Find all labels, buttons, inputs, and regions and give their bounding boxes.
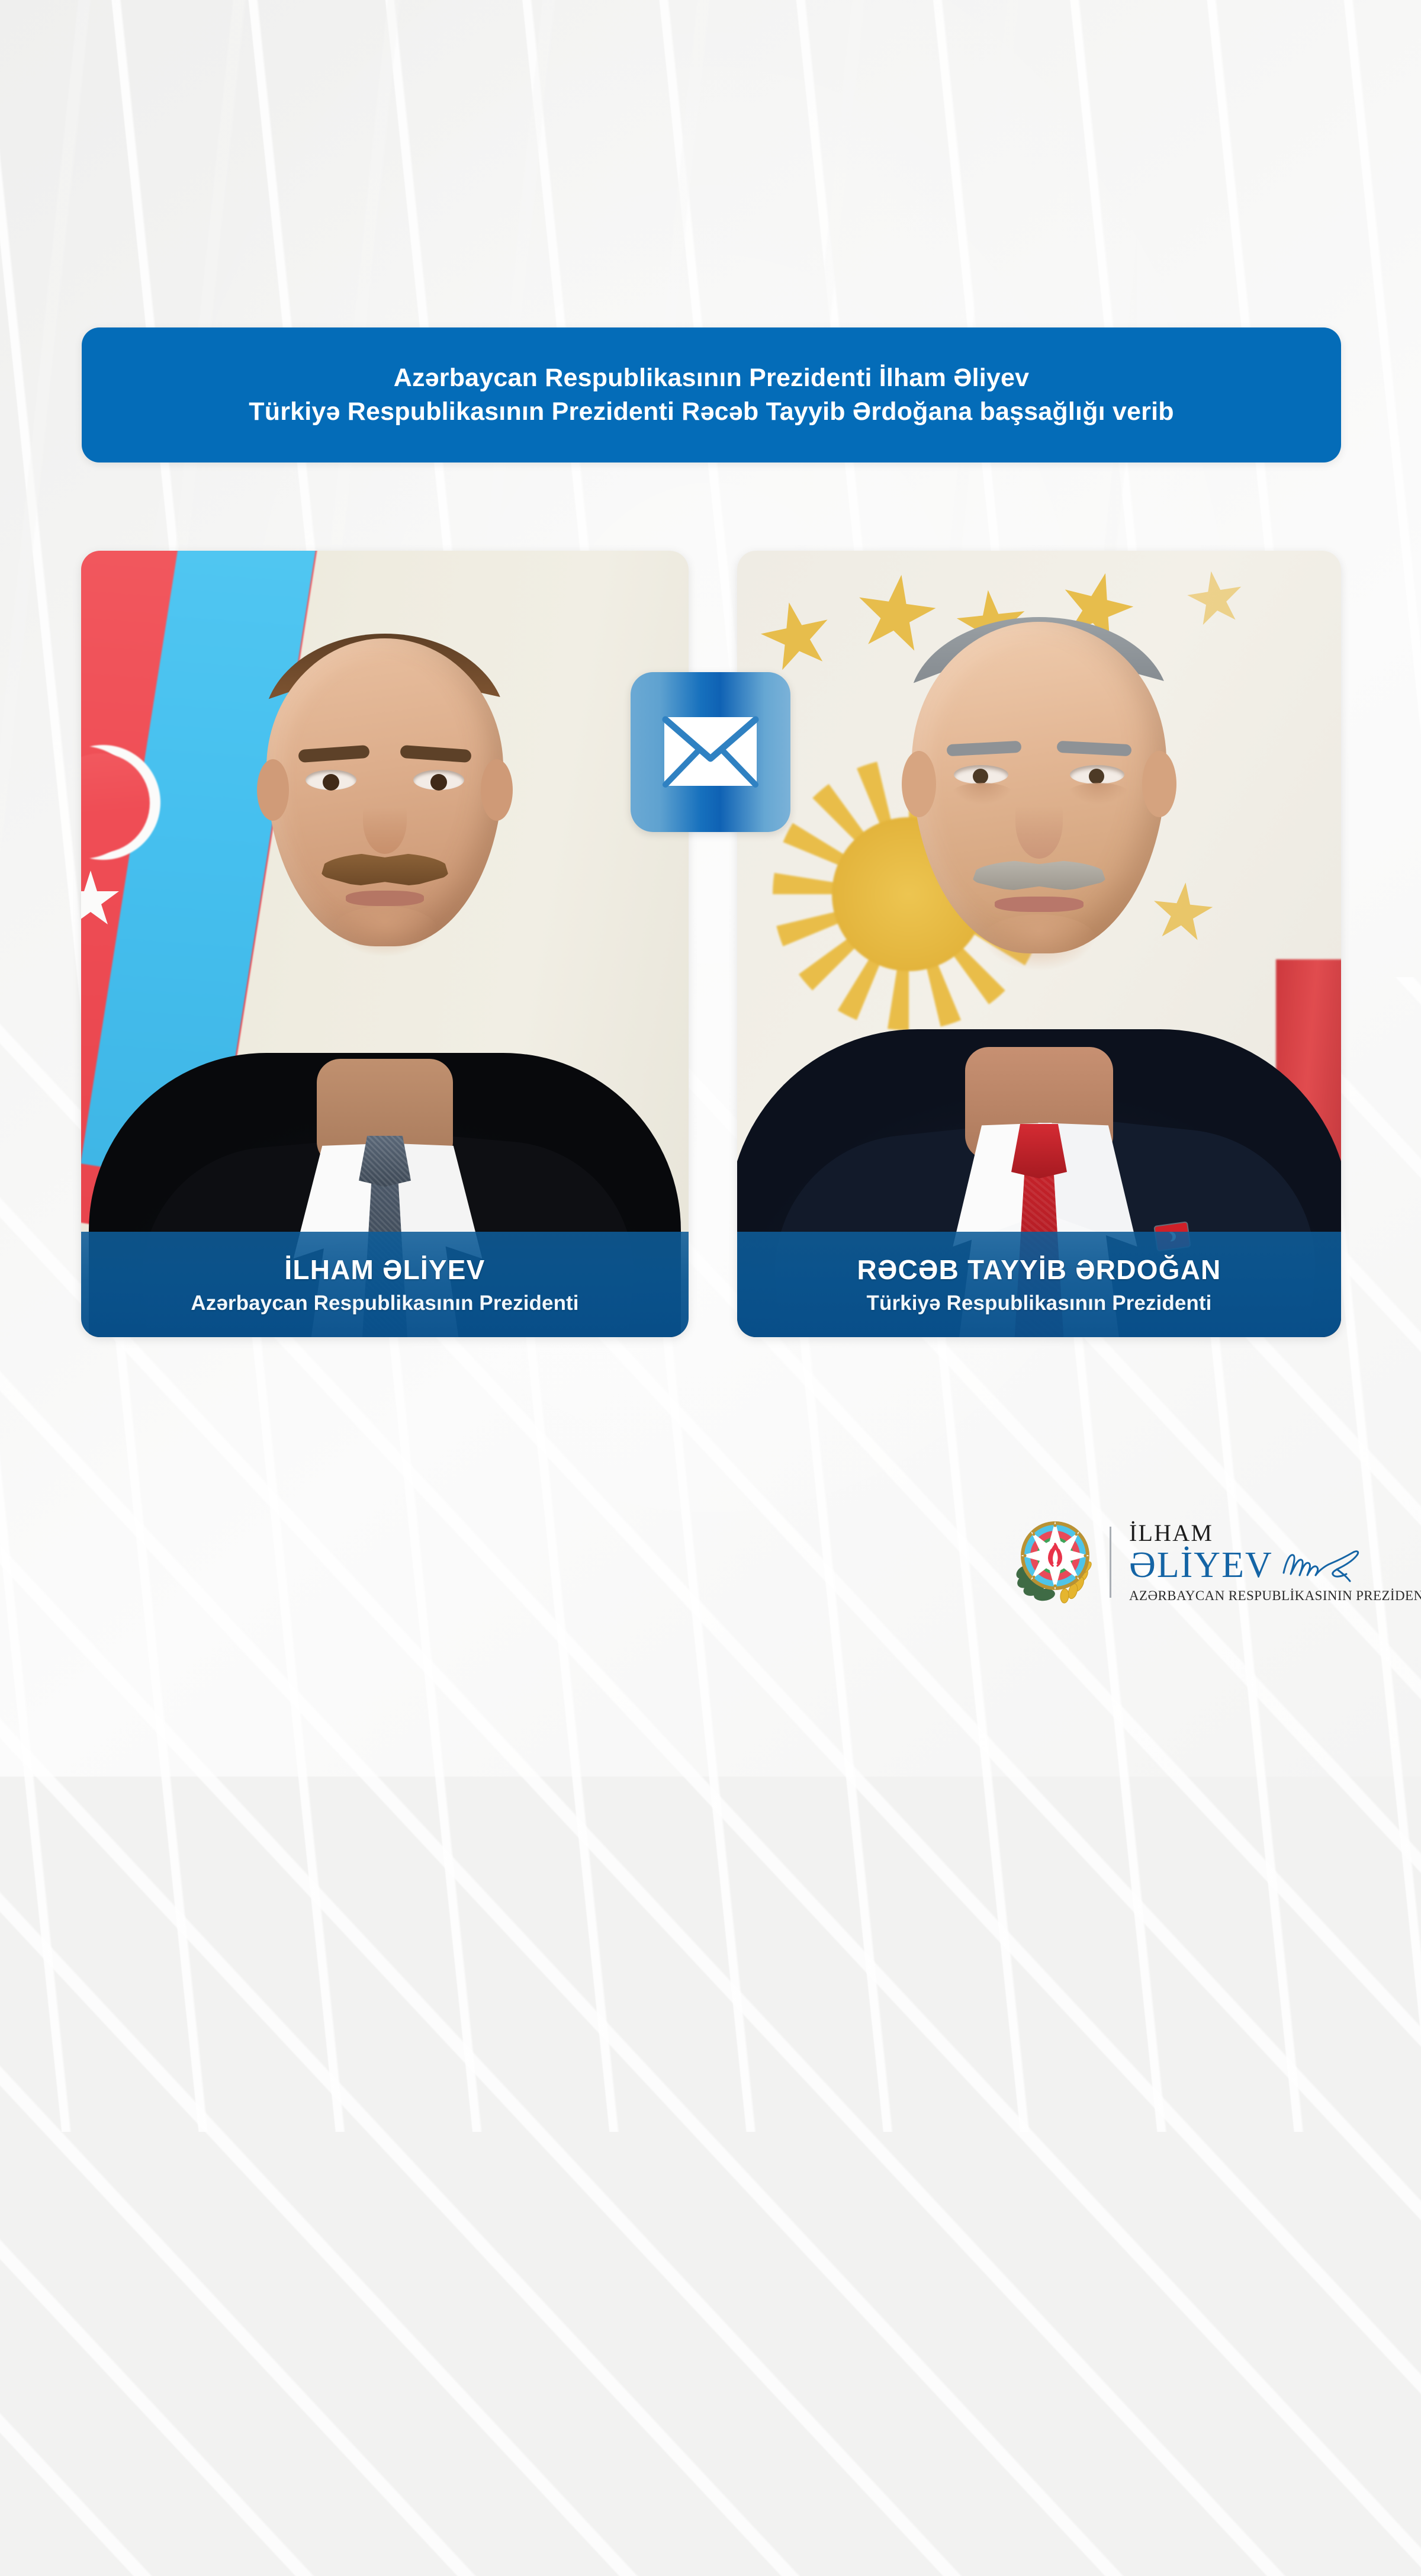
- logo-last-name: ƏLİYEV: [1129, 1548, 1273, 1583]
- aliyev-iris-left: [323, 774, 339, 791]
- caption-aliyev: İLHAM ƏLİYEV Azərbaycan Respublikasının …: [81, 1232, 689, 1337]
- logo-first-name: İLHAM: [1129, 1521, 1421, 1545]
- headline-line-2: Türkiyə Respublikasının Prezidenti Rəcəb…: [249, 395, 1174, 429]
- portrait-card-erdogan: RƏCƏB TAYYİB ƏRDOĞAN Türkiyə Respublikas…: [737, 551, 1341, 1337]
- erdogan-tie-knot: [1011, 1124, 1067, 1178]
- azerbaijan-state-emblem-icon: [1014, 1518, 1097, 1607]
- aliyev-nose: [363, 788, 407, 854]
- azerbaijan-emblem-icon: [1014, 1518, 1097, 1607]
- caption-erdogan: RƏCƏB TAYYİB ƏRDOĞAN Türkiyə Respublikas…: [737, 1232, 1341, 1337]
- erdogan-ear-left: [902, 751, 936, 817]
- signature-icon: [1280, 1547, 1363, 1583]
- erdogan-undereye-left: [951, 783, 1013, 804]
- portrait-photo-aliyev: [81, 551, 689, 1337]
- erdogan-mouth: [995, 897, 1084, 912]
- headline-banner: Azərbaycan Respublikasının Prezidenti İl…: [82, 327, 1341, 462]
- aliyev-ear-left: [257, 759, 289, 821]
- aliyev-chin: [332, 906, 438, 957]
- erdogan-iris-left: [973, 769, 988, 784]
- envelope-icon: [661, 715, 760, 789]
- logo-text-block: İLHAM ƏLİYEV AZƏRBAYCAN RESPUBLİKASININ …: [1124, 1521, 1421, 1604]
- logo-role-text: AZƏRBAYCAN RESPUBLİKASININ PREZİDENTİ: [1129, 1588, 1421, 1604]
- caption-role-aliyev: Azərbaycan Respublikasının Prezidenti: [191, 1290, 578, 1316]
- aliyev-mustache: [321, 853, 449, 886]
- erdogan-chin: [980, 914, 1098, 971]
- erdogan-nose: [1015, 785, 1063, 859]
- erdogan-iris-right: [1089, 769, 1104, 784]
- erdogan-undereye-right: [1068, 783, 1129, 804]
- caption-role-erdogan: Türkiyə Respublikasının Prezidenti: [866, 1290, 1211, 1316]
- erdogan-mustache: [972, 860, 1106, 891]
- portrait-card-aliyev: İLHAM ƏLİYEV Azərbaycan Respublikasının …: [81, 551, 689, 1337]
- aliyev-ear-right: [481, 759, 513, 821]
- caption-name-aliyev: İLHAM ƏLİYEV: [284, 1255, 485, 1286]
- portrait-photo-erdogan: [737, 551, 1341, 1337]
- logo-divider: [1110, 1527, 1111, 1598]
- aliyev-mouth: [346, 891, 424, 906]
- envelope-badge: [631, 672, 790, 832]
- aliyev-iris-right: [430, 774, 447, 791]
- headline-line-1: Azərbaycan Respublikasının Prezidenti İl…: [394, 361, 1030, 395]
- caption-name-erdogan: RƏCƏB TAYYİB ƏRDOĞAN: [857, 1255, 1221, 1286]
- presidential-logo: İLHAM ƏLİYEV AZƏRBAYCAN RESPUBLİKASININ …: [1014, 1509, 1369, 1615]
- aliyev-tie-knot: [359, 1136, 411, 1187]
- erdogan-ear-right: [1142, 751, 1176, 817]
